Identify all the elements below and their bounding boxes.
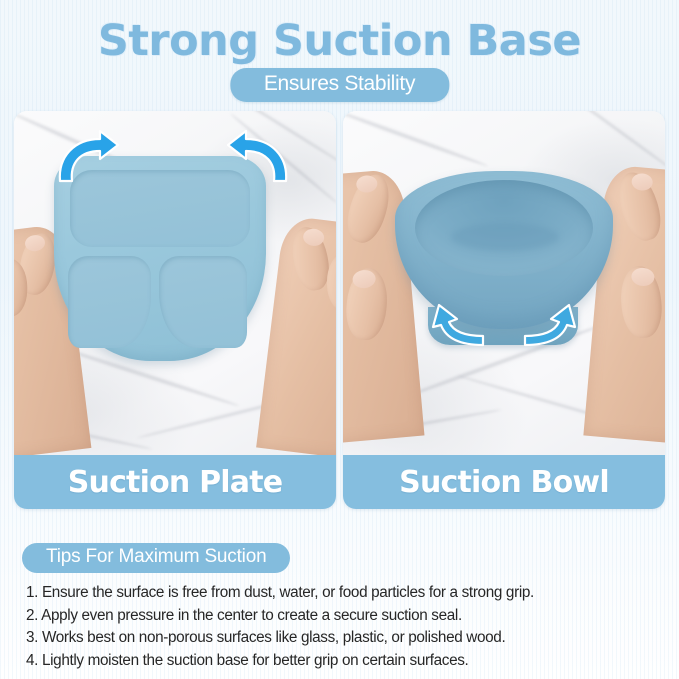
caption-bar-suction-plate: Suction Plate [14, 455, 336, 509]
panel-row: Suction Plate [14, 111, 665, 509]
arrow-up-left-icon [52, 129, 122, 187]
plate-compartment-bottom-left [68, 256, 151, 348]
arrow-up-left-icon [427, 301, 487, 351]
caption-label: Suction Bowl [399, 465, 609, 500]
header: Strong Suction Base Ensures Stability [0, 0, 679, 108]
tips-heading-badge: Tips For Maximum Suction [22, 543, 290, 573]
subtitle-badge: Ensures Stability [230, 68, 449, 102]
photo-suction-bowl [343, 111, 665, 455]
infographic-page: Strong Suction Base Ensures Stability [0, 0, 679, 679]
photo-suction-plate [14, 111, 336, 455]
arrow-up-right-icon [224, 129, 294, 187]
caption-bar-suction-bowl: Suction Bowl [343, 455, 665, 509]
arrow-up-right-icon [521, 301, 581, 351]
marble-vein [343, 111, 489, 168]
bowl-interior-shadow [451, 223, 559, 251]
tip-item: 1. Ensure the surface is free from dust,… [26, 582, 666, 605]
panel-suction-plate: Suction Plate [14, 111, 336, 509]
page-title: Strong Suction Base [0, 16, 679, 66]
tip-item: 2. Apply even pressure in the center to … [26, 605, 666, 628]
tip-item: 3. Works best on non-porous surfaces lik… [26, 627, 666, 650]
tips-list: 1. Ensure the surface is free from dust,… [26, 582, 666, 672]
tip-item: 4. Lightly moisten the suction base for … [26, 650, 666, 673]
panel-suction-bowl: Suction Bowl [343, 111, 665, 509]
right-hand [256, 215, 336, 455]
plate-compartment-bottom-right [159, 256, 247, 348]
marble-vein [547, 111, 665, 175]
caption-label: Suction Plate [68, 465, 283, 500]
